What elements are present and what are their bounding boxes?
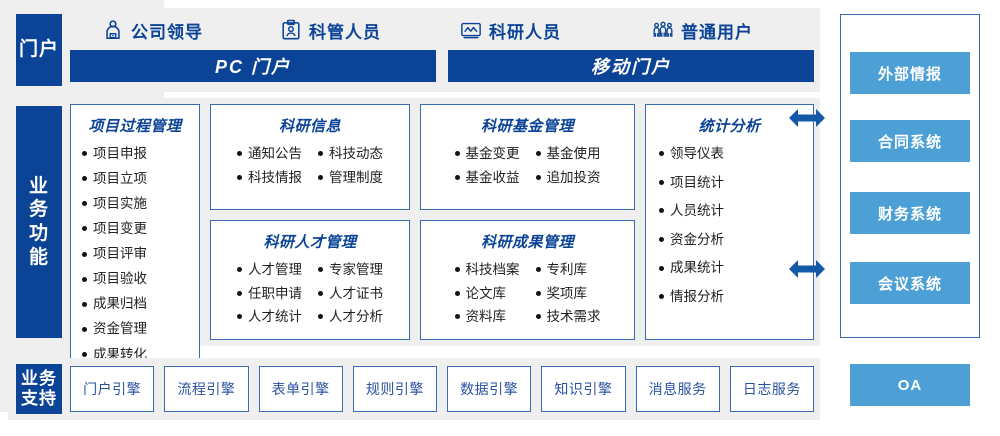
card-item-column: 专家管理 人才证书 人才分析 bbox=[318, 260, 383, 327]
list-item[interactable]: 科技情报 bbox=[237, 168, 302, 188]
function-band-label-c3: 功 bbox=[29, 222, 49, 246]
service-log[interactable]: 日志服务 bbox=[730, 366, 814, 412]
engine-list: 门户引擎 流程引擎 表单引擎 规则引擎 数据引擎 知识引擎 消息服务 日志服务 bbox=[70, 366, 814, 412]
list-item[interactable]: 通知公告 bbox=[237, 144, 302, 164]
card-title: 科研信息 bbox=[279, 115, 341, 136]
portal-bar-list: PC 门户 移动门户 bbox=[70, 50, 814, 82]
list-item[interactable]: 领导仪表 bbox=[659, 144, 724, 164]
external-system-contract[interactable]: 合同系统 bbox=[850, 120, 970, 162]
list-item-label: 基金使用 bbox=[547, 144, 601, 164]
card-item-column: 项目申报 项目立项 项目实施 项目变更 项目评审 项目验收 成果归档 资金管理 … bbox=[82, 144, 147, 364]
list-item-label: 管理制度 bbox=[329, 168, 383, 188]
list-item-label: 科技动态 bbox=[329, 144, 383, 164]
card-title: 科研成果管理 bbox=[481, 231, 574, 252]
bullet-icon bbox=[237, 314, 242, 319]
list-item-label: 科技情报 bbox=[248, 168, 302, 188]
list-item[interactable]: 人才统计 bbox=[237, 307, 302, 327]
engine-workflow[interactable]: 流程引擎 bbox=[164, 366, 248, 412]
list-item-label: 资金管理 bbox=[93, 319, 147, 339]
list-item[interactable]: 项目验收 bbox=[82, 269, 147, 289]
external-system-oa[interactable]: OA bbox=[850, 364, 970, 406]
external-system-intelligence[interactable]: 外部情报 bbox=[850, 52, 970, 94]
bullet-icon bbox=[536, 175, 541, 180]
list-item[interactable]: 资料库 bbox=[455, 307, 520, 327]
bullet-icon bbox=[659, 208, 664, 213]
bullet-icon bbox=[455, 314, 460, 319]
list-item[interactable]: 追加投资 bbox=[536, 168, 601, 188]
list-item[interactable]: 成果归档 bbox=[82, 294, 147, 314]
list-item-label: 专家管理 bbox=[329, 260, 383, 280]
list-item-label: 人才管理 bbox=[248, 260, 302, 280]
list-item-label: 专利库 bbox=[547, 260, 588, 280]
role-researcher-label: 科研人员 bbox=[489, 18, 561, 43]
list-item-label: 论文库 bbox=[466, 284, 507, 304]
card-item-columns: 科技档案 论文库 资料库 专利库 奖项库 技术需求 bbox=[427, 260, 628, 327]
list-item-label: 成果统计 bbox=[670, 258, 724, 278]
card-research-result-management[interactable]: 科研成果管理 科技档案 论文库 资料库 专利库 奖项库 技术需求 bbox=[420, 220, 635, 340]
card-item-columns: 项目申报 项目立项 项目实施 项目变更 项目评审 项目验收 成果归档 资金管理 … bbox=[72, 144, 198, 364]
list-item-label: 项目立项 bbox=[93, 169, 147, 189]
role-research-admin[interactable]: 科管人员 bbox=[256, 18, 442, 43]
function-card-grid: 项目过程管理 项目申报 项目立项 项目实施 项目变更 项目评审 项目验收 成果归… bbox=[70, 104, 814, 340]
list-item-label: 项目申报 bbox=[93, 144, 147, 164]
bullet-icon bbox=[82, 226, 87, 231]
card-item-column: 人才管理 任职申请 人才统计 bbox=[237, 260, 302, 327]
bullet-icon bbox=[82, 151, 87, 156]
function-band-label: 业 务 功 能 bbox=[16, 106, 62, 338]
card-item-column: 通知公告 科技情报 bbox=[237, 144, 302, 187]
portal-bar-mobile[interactable]: 移动门户 bbox=[448, 50, 814, 82]
list-item[interactable]: 科技动态 bbox=[318, 144, 383, 164]
list-item-label: 通知公告 bbox=[248, 144, 302, 164]
bullet-icon bbox=[455, 291, 460, 296]
bullet-icon bbox=[237, 267, 242, 272]
card-title: 科研人才管理 bbox=[263, 231, 356, 252]
card-item-columns: 人才管理 任职申请 人才统计 专家管理 人才证书 人才分析 bbox=[217, 260, 403, 327]
card-item-column: 科技档案 论文库 资料库 bbox=[455, 260, 520, 327]
support-band-label: 业务 支持 bbox=[16, 364, 62, 414]
role-company-leader[interactable]: 公司领导 bbox=[70, 18, 256, 43]
engine-rule[interactable]: 规则引擎 bbox=[353, 366, 437, 412]
bullet-icon bbox=[455, 151, 460, 156]
list-item-label: 成果归档 bbox=[93, 294, 147, 314]
list-item[interactable]: 资金管理 bbox=[82, 319, 147, 339]
bullet-icon bbox=[659, 266, 664, 271]
engine-data[interactable]: 数据引擎 bbox=[447, 366, 531, 412]
card-research-fund-management[interactable]: 科研基金管理 基金变更 基金收益 基金使用 追加投资 bbox=[420, 104, 635, 210]
list-item[interactable]: 专利库 bbox=[536, 260, 601, 280]
list-item[interactable]: 项目评审 bbox=[82, 244, 147, 264]
role-research-admin-label: 科管人员 bbox=[309, 18, 381, 43]
bullet-icon bbox=[237, 151, 242, 156]
function-band-label-c2: 务 bbox=[29, 198, 49, 222]
bullet-icon bbox=[536, 314, 541, 319]
list-item[interactable]: 基金收益 bbox=[455, 168, 520, 188]
list-item[interactable]: 技术需求 bbox=[536, 307, 601, 327]
card-title: 科研基金管理 bbox=[481, 115, 574, 136]
card-research-information[interactable]: 科研信息 通知公告 科技情报 科技动态 管理制度 bbox=[210, 104, 410, 210]
double-arrow-icon-top bbox=[788, 105, 826, 131]
bullet-icon bbox=[318, 314, 323, 319]
card-item-column: 基金使用 追加投资 bbox=[536, 144, 601, 187]
card-item-columns: 基金变更 基金收益 基金使用 追加投资 bbox=[427, 144, 628, 187]
card-item-column: 领导仪表 项目统计 人员统计 资金分析 成果统计 情报分析 bbox=[659, 144, 724, 306]
engine-portal[interactable]: 门户引擎 bbox=[70, 366, 154, 412]
user-leader-icon bbox=[102, 19, 124, 41]
list-item[interactable]: 论文库 bbox=[455, 284, 520, 304]
engine-form[interactable]: 表单引擎 bbox=[259, 366, 343, 412]
bullet-icon bbox=[237, 175, 242, 180]
function-column-info-talent: 科研信息 通知公告 科技情报 科技动态 管理制度 科研人才管理 人才管 bbox=[210, 104, 410, 340]
bullet-icon bbox=[659, 237, 664, 242]
card-item-column: 科技动态 管理制度 bbox=[318, 144, 383, 187]
list-item[interactable]: 人才管理 bbox=[237, 260, 302, 280]
card-project-process-management[interactable]: 项目过程管理 项目申报 项目立项 项目实施 项目变更 项目评审 项目验收 成果归… bbox=[70, 104, 200, 373]
list-item-label: 情报分析 bbox=[670, 287, 724, 307]
bullet-icon bbox=[318, 267, 323, 272]
bullet-icon bbox=[318, 151, 323, 156]
support-band-label-line2: 支持 bbox=[21, 389, 57, 409]
list-item[interactable]: 科技档案 bbox=[455, 260, 520, 280]
portal-band-label-text: 门户 bbox=[19, 38, 59, 62]
bullet-icon bbox=[455, 175, 460, 180]
bullet-icon bbox=[318, 175, 323, 180]
role-researcher[interactable]: 科研人员 bbox=[442, 18, 628, 43]
bullet-icon bbox=[659, 180, 664, 185]
bullet-icon bbox=[82, 352, 87, 357]
bullet-icon bbox=[536, 267, 541, 272]
function-band-label-c1: 业 bbox=[29, 175, 49, 199]
card-title: 统计分析 bbox=[698, 115, 760, 136]
list-item-label: 科技档案 bbox=[466, 260, 520, 280]
bullet-icon bbox=[536, 291, 541, 296]
bullet-icon bbox=[659, 294, 664, 299]
card-statistical-analysis[interactable]: 统计分析 领导仪表 项目统计 人员统计 资金分析 成果统计 情报分析 bbox=[645, 104, 814, 340]
list-item[interactable]: 基金变更 bbox=[455, 144, 520, 164]
external-system-meeting[interactable]: 会议系统 bbox=[850, 262, 970, 304]
bullet-icon bbox=[82, 252, 87, 257]
list-item[interactable]: 专家管理 bbox=[318, 260, 383, 280]
role-general-user[interactable]: 普通用户 bbox=[628, 18, 814, 43]
list-item[interactable]: 人才证书 bbox=[318, 284, 383, 304]
list-item-label: 奖项库 bbox=[547, 284, 588, 304]
list-item-label: 技术需求 bbox=[547, 307, 601, 327]
bullet-icon bbox=[455, 267, 460, 272]
bullet-icon bbox=[237, 291, 242, 296]
list-item[interactable]: 资金分析 bbox=[659, 230, 724, 250]
list-item[interactable]: 项目申报 bbox=[82, 144, 147, 164]
list-item-label: 资料库 bbox=[466, 307, 507, 327]
list-item[interactable]: 项目变更 bbox=[82, 219, 147, 239]
card-item-column: 专利库 奖项库 技术需求 bbox=[536, 260, 601, 327]
list-item[interactable]: 基金使用 bbox=[536, 144, 601, 164]
list-item[interactable]: 情报分析 bbox=[659, 287, 724, 307]
support-band-label-line1: 业务 bbox=[21, 369, 57, 389]
portal-band-label: 门户 bbox=[16, 14, 62, 86]
list-item-label: 任职申请 bbox=[248, 284, 302, 304]
bullet-icon bbox=[536, 151, 541, 156]
function-column-process: 项目过程管理 项目申报 项目立项 项目实施 项目变更 项目评审 项目验收 成果归… bbox=[70, 104, 200, 340]
list-item[interactable]: 管理制度 bbox=[318, 168, 383, 188]
list-item[interactable]: 成果统计 bbox=[659, 258, 724, 278]
list-item-label: 人才统计 bbox=[248, 307, 302, 327]
engine-knowledge[interactable]: 知识引擎 bbox=[541, 366, 625, 412]
bullet-icon bbox=[82, 302, 87, 307]
user-group-icon bbox=[652, 19, 674, 41]
bullet-icon bbox=[82, 327, 87, 332]
function-band-label-c4: 能 bbox=[29, 246, 49, 270]
architecture-diagram: 门户 公司领导 科管人员 bbox=[0, 0, 1000, 436]
bullet-icon bbox=[82, 277, 87, 282]
list-item[interactable]: 任职申请 bbox=[237, 284, 302, 304]
list-item-label: 基金变更 bbox=[466, 144, 520, 164]
card-item-columns: 通知公告 科技情报 科技动态 管理制度 bbox=[217, 144, 403, 187]
list-item-label: 项目统计 bbox=[670, 173, 724, 193]
card-item-column: 基金变更 基金收益 bbox=[455, 144, 520, 187]
double-arrow-icon-bottom bbox=[788, 256, 826, 282]
list-item-label: 项目验收 bbox=[93, 269, 147, 289]
function-column-fund-result: 科研基金管理 基金变更 基金收益 基金使用 追加投资 科研成果管理 科 bbox=[420, 104, 635, 340]
card-item-columns: 领导仪表 项目统计 人员统计 资金分析 成果统计 情报分析 bbox=[645, 144, 814, 306]
list-item-label: 领导仪表 bbox=[670, 144, 724, 164]
portal-bar-pc[interactable]: PC 门户 bbox=[70, 50, 436, 82]
role-list: 公司领导 科管人员 科研人员 bbox=[70, 14, 814, 46]
list-item-label: 人员统计 bbox=[670, 201, 724, 221]
card-research-talent-management[interactable]: 科研人才管理 人才管理 任职申请 人才统计 专家管理 人才证书 人才分析 bbox=[210, 220, 410, 340]
role-general-user-label: 普通用户 bbox=[681, 18, 753, 43]
service-message[interactable]: 消息服务 bbox=[636, 366, 720, 412]
list-item[interactable]: 项目实施 bbox=[82, 194, 147, 214]
list-item-label: 追加投资 bbox=[547, 168, 601, 188]
bullet-icon bbox=[82, 176, 87, 181]
external-system-finance[interactable]: 财务系统 bbox=[850, 192, 970, 234]
list-item[interactable]: 人才分析 bbox=[318, 307, 383, 327]
bullet-icon bbox=[318, 291, 323, 296]
monitor-chart-icon bbox=[460, 19, 482, 41]
list-item-label: 项目评审 bbox=[93, 244, 147, 264]
list-item-label: 基金收益 bbox=[466, 168, 520, 188]
bullet-icon bbox=[82, 201, 87, 206]
list-item[interactable]: 奖项库 bbox=[536, 284, 601, 304]
card-title: 项目过程管理 bbox=[88, 115, 181, 136]
list-item[interactable]: 人员统计 bbox=[659, 201, 724, 221]
list-item[interactable]: 项目立项 bbox=[82, 169, 147, 189]
list-item-label: 人才证书 bbox=[329, 284, 383, 304]
list-item[interactable]: 项目统计 bbox=[659, 173, 724, 193]
function-column-statistics: 统计分析 领导仪表 项目统计 人员统计 资金分析 成果统计 情报分析 bbox=[645, 104, 814, 340]
bullet-icon bbox=[659, 151, 664, 156]
list-item-label: 项目实施 bbox=[93, 194, 147, 214]
role-company-leader-label: 公司领导 bbox=[131, 18, 203, 43]
list-item-label: 人才分析 bbox=[329, 307, 383, 327]
list-item-label: 资金分析 bbox=[670, 230, 724, 250]
id-badge-icon bbox=[280, 19, 302, 41]
list-item-label: 项目变更 bbox=[93, 219, 147, 239]
